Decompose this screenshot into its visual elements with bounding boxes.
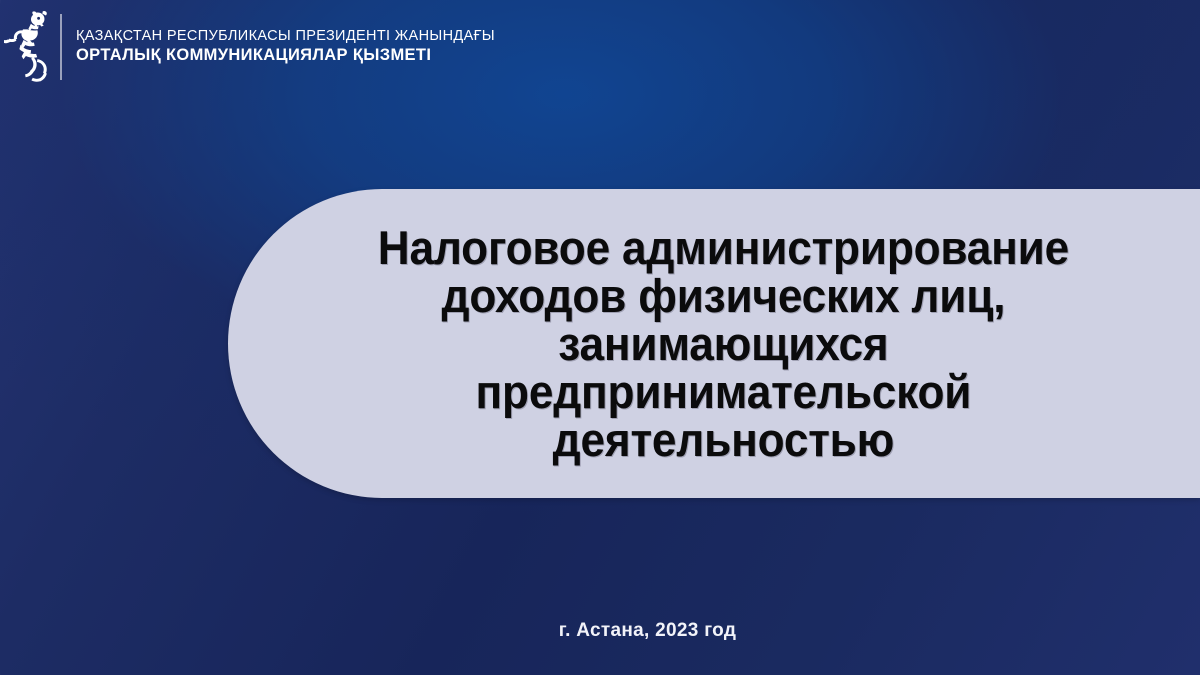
page-title: Налоговое администрирование доходов физи… bbox=[291, 224, 1137, 464]
title-card: Налоговое администрирование доходов физи… bbox=[228, 189, 1200, 498]
title-slide: ҚАЗАҚСТАН РЕСПУБЛИКАСЫ ПРЕЗИДЕНТІ ЖАНЫНД… bbox=[0, 0, 1200, 675]
header-divider bbox=[60, 14, 62, 80]
snow-leopard-heraldic-icon bbox=[4, 8, 56, 86]
organization-line-2: ОРТАЛЫҚ КОММУНИКАЦИЯЛАР ҚЫЗМЕТІ bbox=[76, 47, 495, 64]
organization-line-1: ҚАЗАҚСТАН РЕСПУБЛИКАСЫ ПРЕЗИДЕНТІ ЖАНЫНД… bbox=[76, 29, 495, 44]
footer-location-year: г. Астана, 2023 год bbox=[0, 620, 1200, 642]
organization-name: ҚАЗАҚСТАН РЕСПУБЛИКАСЫ ПРЕЗИДЕНТІ ЖАНЫНД… bbox=[76, 29, 495, 65]
header-branding: ҚАЗАҚСТАН РЕСПУБЛИКАСЫ ПРЕЗИДЕНТІ ЖАНЫНД… bbox=[0, 0, 495, 94]
